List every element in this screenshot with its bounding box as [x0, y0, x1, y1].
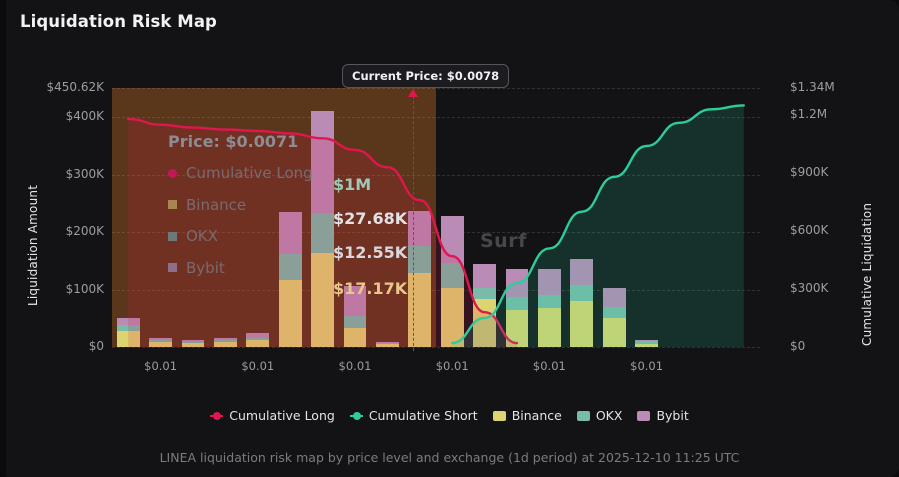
y-tick-label-right: $300K	[790, 281, 828, 295]
y-tick-label-right: $1.34M	[790, 80, 835, 94]
y-tick-label-left: $100K	[66, 282, 104, 296]
x-tick-label: $0.01	[241, 359, 274, 373]
chart-plot-area: Liquidation Amount Cumulative Liquidatio…	[0, 46, 899, 396]
current-price-badge: Current Price: $0.0078	[342, 64, 509, 88]
tooltip-series-value: $1M	[333, 175, 371, 194]
legend-item-label: Bybit	[656, 408, 688, 423]
x-tick-label: $0.01	[630, 359, 663, 373]
y-tick-label-left: $300K	[66, 167, 104, 181]
tooltip-series-value: $12.55K	[333, 243, 407, 262]
y-axis-title-right: Cumulative Liquidation	[860, 203, 874, 346]
legend-item-label: Cumulative Short	[369, 408, 478, 423]
x-tick-label: $0.01	[339, 359, 372, 373]
gridline	[112, 347, 760, 348]
x-tick-label: $0.01	[533, 359, 566, 373]
legend-item[interactable]: Bybit	[637, 408, 688, 423]
legend-item-label: Cumulative Long	[229, 408, 335, 423]
cumulative-area-long	[128, 119, 517, 347]
y-tick-label-right: $900K	[790, 165, 828, 179]
y-tick-label-left: $400K	[66, 109, 104, 123]
liquidation-risk-map-card: Liquidation Risk Map Liquidation Amount …	[0, 0, 899, 477]
legend-item[interactable]: Cumulative Long	[210, 408, 335, 423]
tooltip-series-value: $27.68K	[333, 209, 407, 228]
current-price-line	[413, 96, 414, 351]
current-price-arrow-icon	[408, 89, 418, 97]
cumulative-lines-layer	[112, 88, 760, 347]
page-title: Liquidation Risk Map	[20, 12, 217, 31]
legend-item[interactable]: OKX	[577, 408, 623, 423]
chart-caption: LINEA liquidation risk map by price leve…	[0, 450, 899, 465]
y-tick-label-left: $200K	[66, 224, 104, 238]
watermark: Surf	[480, 230, 527, 252]
legend-line-marker-icon	[210, 412, 223, 420]
y-tick-label-left: $0	[89, 339, 104, 353]
legend-item-label: Binance	[512, 408, 562, 423]
chart-legend: Cumulative LongCumulative ShortBinanceOK…	[0, 408, 899, 423]
legend-line-marker-icon	[350, 412, 363, 420]
legend-swatch-icon	[493, 411, 506, 421]
y-tick-label-right: $600K	[790, 223, 828, 237]
y-tick-label-left: $450.62K	[47, 80, 105, 94]
legend-swatch-icon	[637, 411, 650, 421]
legend-item[interactable]: Cumulative Short	[350, 408, 478, 423]
y-tick-label-right: $1.2M	[790, 107, 827, 121]
legend-item-label: OKX	[596, 408, 623, 423]
legend-swatch-icon	[577, 411, 590, 421]
legend-item[interactable]: Binance	[493, 408, 562, 423]
bars-and-lines	[112, 88, 760, 347]
x-tick-label: $0.01	[144, 359, 177, 373]
x-tick-label: $0.01	[436, 359, 469, 373]
y-tick-label-right: $0	[790, 339, 805, 353]
y-axis-title-left: Liquidation Amount	[26, 185, 40, 306]
tooltip-series-value: $17.17K	[333, 279, 407, 298]
